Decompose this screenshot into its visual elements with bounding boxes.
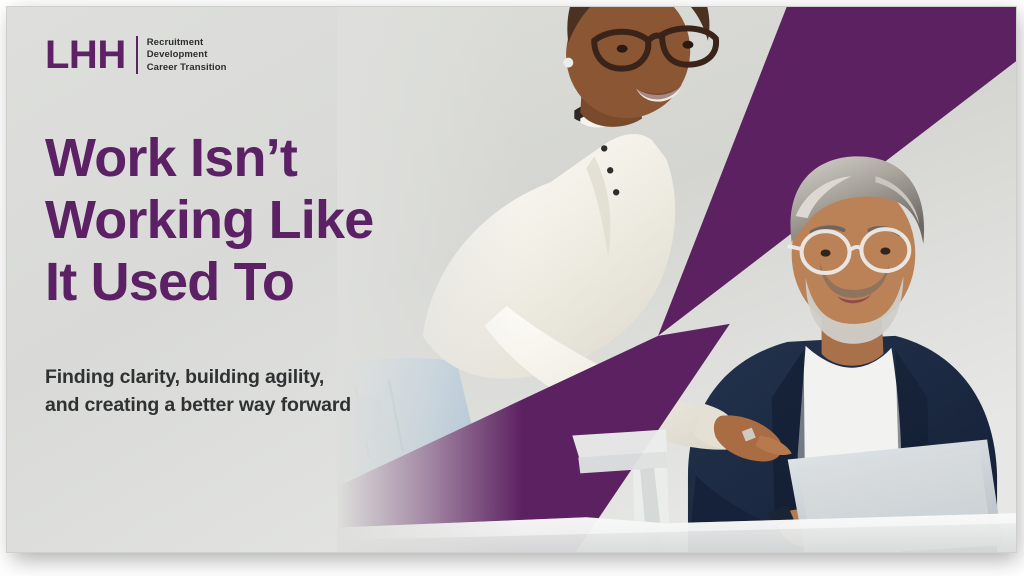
headline-line-1: Work Isn’t (45, 127, 425, 189)
lhh-logo[interactable]: LHH Recruitment Development Career Trans… (45, 35, 227, 75)
page-subtitle: Finding clarity, building agility, and c… (45, 364, 445, 419)
vertical-rule-icon (136, 36, 138, 74)
page-title: Work Isn’t Working Like It Used To (45, 127, 425, 313)
subtitle-line-2: and creating a better way forward (45, 392, 445, 420)
tagline-line-1: Recruitment (147, 37, 227, 50)
slide-stage: LHH Recruitment Development Career Trans… (0, 0, 1024, 576)
subtitle-line-1: Finding clarity, building agility, (45, 364, 445, 392)
tagline-line-3: Career Transition (147, 62, 227, 75)
tagline-line-2: Development (147, 49, 227, 62)
hero-photo-illustration (337, 7, 1016, 552)
headline-line-2: Working Like (45, 189, 425, 251)
presentation-slide-card: LHH Recruitment Development Career Trans… (6, 6, 1017, 553)
hero-photo (337, 7, 1016, 552)
lhh-wordmark: LHH (45, 35, 126, 75)
lhh-tagline: Recruitment Development Career Transitio… (147, 35, 227, 75)
headline-line-3: It Used To (45, 251, 425, 313)
